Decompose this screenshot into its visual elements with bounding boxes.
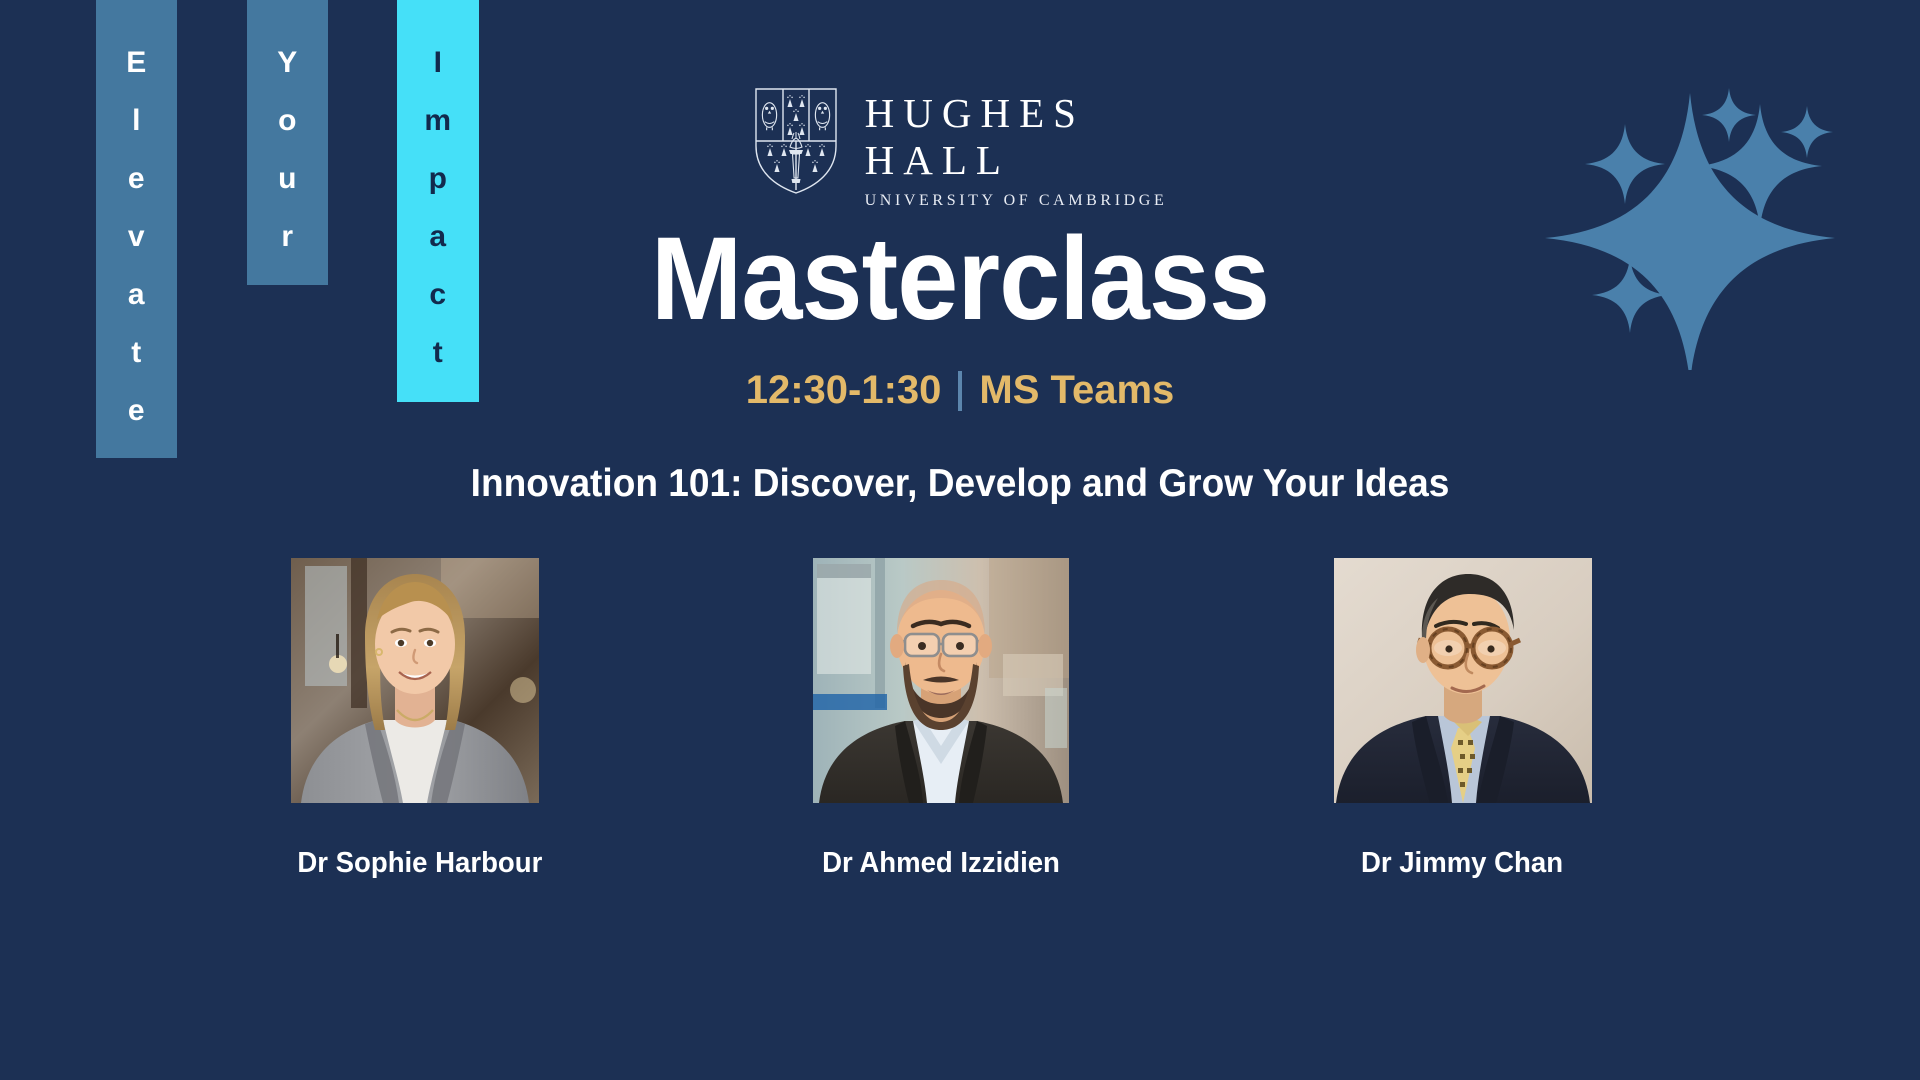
portrait-jimmy-chan xyxy=(1334,558,1592,803)
hughes-hall-logo: HUGHES HALL UNIVERSITY OF CAMBRIDGE xyxy=(0,86,1920,210)
portrait-sophie-harbour xyxy=(291,558,539,803)
speaker-card: Dr Sophie Harbour xyxy=(291,558,547,880)
logo-line-hughes: HUGHES xyxy=(865,90,1168,137)
tagline-letter: I xyxy=(434,34,443,92)
speaker-card: Dr Jimmy Chan xyxy=(1334,558,1590,880)
logo-university-line: UNIVERSITY OF CAMBRIDGE xyxy=(865,192,1168,210)
speaker-list: Dr Sophie Harbour xyxy=(291,558,1590,880)
page-title: Masterclass xyxy=(67,216,1853,343)
meta-divider xyxy=(958,371,962,411)
tagline-letter: Y xyxy=(277,34,298,92)
hughes-hall-crest-icon xyxy=(753,86,839,196)
session-title: Innovation 101: Discover, Develop and Gr… xyxy=(48,462,1872,506)
logo-line-hall: HALL xyxy=(865,137,1168,184)
hughes-hall-wordmark: HUGHES HALL UNIVERSITY OF CAMBRIDGE xyxy=(865,86,1168,210)
speaker-name: Dr Sophie Harbour xyxy=(297,847,540,880)
event-meta: 12:30-1:30 MS Teams xyxy=(0,368,1920,413)
masterclass-poster: E l e v a t e Y o u r I m p a c t xyxy=(0,0,1920,1080)
portrait-ahmed-izzidien xyxy=(813,558,1069,803)
speaker-card: Dr Ahmed Izzidien xyxy=(813,558,1069,880)
event-time: 12:30-1:30 xyxy=(746,368,942,413)
speaker-name: Dr Jimmy Chan xyxy=(1340,847,1583,880)
tagline-letter: E xyxy=(126,34,147,92)
speaker-name: Dr Ahmed Izzidien xyxy=(819,847,1062,880)
event-platform: MS Teams xyxy=(979,368,1174,413)
